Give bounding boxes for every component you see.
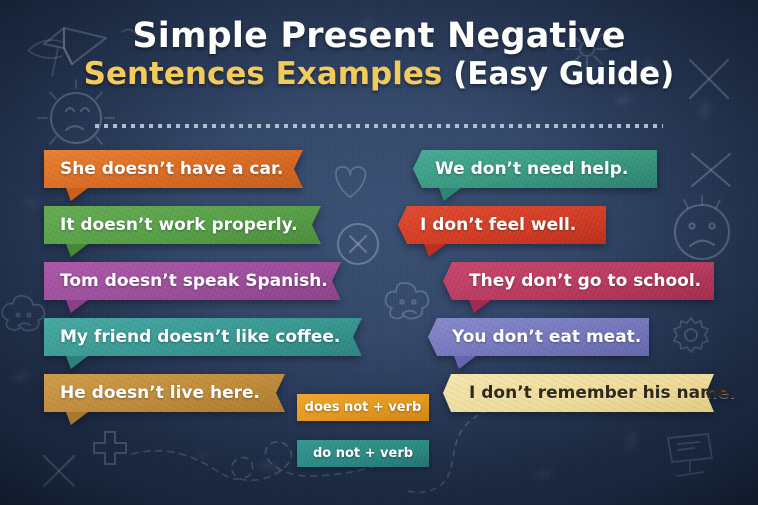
banner-tail xyxy=(66,412,88,425)
banner-tail xyxy=(66,356,88,369)
banner-tail xyxy=(469,300,491,313)
poster-header: Simple Present Negative Sentences Exampl… xyxy=(0,18,758,92)
plus-mark-icon xyxy=(86,424,134,472)
rule-tag-do-not: do not + verb xyxy=(297,440,429,467)
sentence-text: We don’t need help. xyxy=(435,161,628,178)
sentence-banner: We don’t need help. xyxy=(413,150,657,188)
rule-tag-does-not: does not + verb xyxy=(297,394,429,421)
dotted-divider xyxy=(95,124,663,128)
sentence-banner: You don’t eat meat. xyxy=(428,318,649,356)
sentence-banner: Tom doesn’t speak Spanish. xyxy=(44,262,341,300)
sentence-banner: My friend doesn’t like coffee. xyxy=(44,318,362,356)
sentence-text: They don’t go to school. xyxy=(469,273,701,290)
banner-tail xyxy=(66,188,88,201)
x-mark-icon xyxy=(682,140,742,200)
sentence-text: She doesn’t have a car. xyxy=(60,161,283,178)
banner-tail xyxy=(66,244,88,257)
banner-tail xyxy=(424,244,446,257)
heart-outline-icon xyxy=(326,160,372,210)
rule-tag-label: does not + verb xyxy=(305,401,422,414)
sentence-text: I don’t feel well. xyxy=(420,217,576,234)
sentence-banner: I don’t remember his name. xyxy=(443,374,714,412)
sentence-text: He doesn’t live here. xyxy=(60,385,260,402)
sentence-text: I don’t remember his name. xyxy=(469,385,736,402)
page-title-line1: Simple Present Negative xyxy=(0,18,758,55)
x-mark-icon xyxy=(36,448,84,496)
banner-tail xyxy=(439,188,461,201)
page-title-highlight: Sentences Examples xyxy=(84,56,443,92)
sentence-banner: He doesn’t live here. xyxy=(44,374,285,412)
poster-canvas: Simple Present Negative Sentences Exampl… xyxy=(0,0,758,505)
gear-icon xyxy=(666,310,716,360)
banner-tail xyxy=(454,356,476,369)
page-title-line2: Sentences Examples (Easy Guide) xyxy=(0,57,758,92)
sentence-banner: I don’t feel well. xyxy=(398,206,606,244)
sad-face-icon xyxy=(660,188,744,272)
page-title-subtitle: (Easy Guide) xyxy=(442,56,674,92)
sentence-text: My friend doesn’t like coffee. xyxy=(60,329,340,346)
rule-tag-label: do not + verb xyxy=(313,447,413,460)
sentence-banner: They don’t go to school. xyxy=(443,262,714,300)
sentence-banner: She doesn’t have a car. xyxy=(44,150,303,188)
banner-tail xyxy=(66,300,88,313)
monitor-icon xyxy=(660,428,718,484)
sentence-text: Tom doesn’t speak Spanish. xyxy=(60,273,328,290)
sentence-banner: It doesn’t work properly. xyxy=(44,206,321,244)
sentence-text: It doesn’t work properly. xyxy=(60,217,298,234)
sentence-text: You don’t eat meat. xyxy=(452,329,641,346)
